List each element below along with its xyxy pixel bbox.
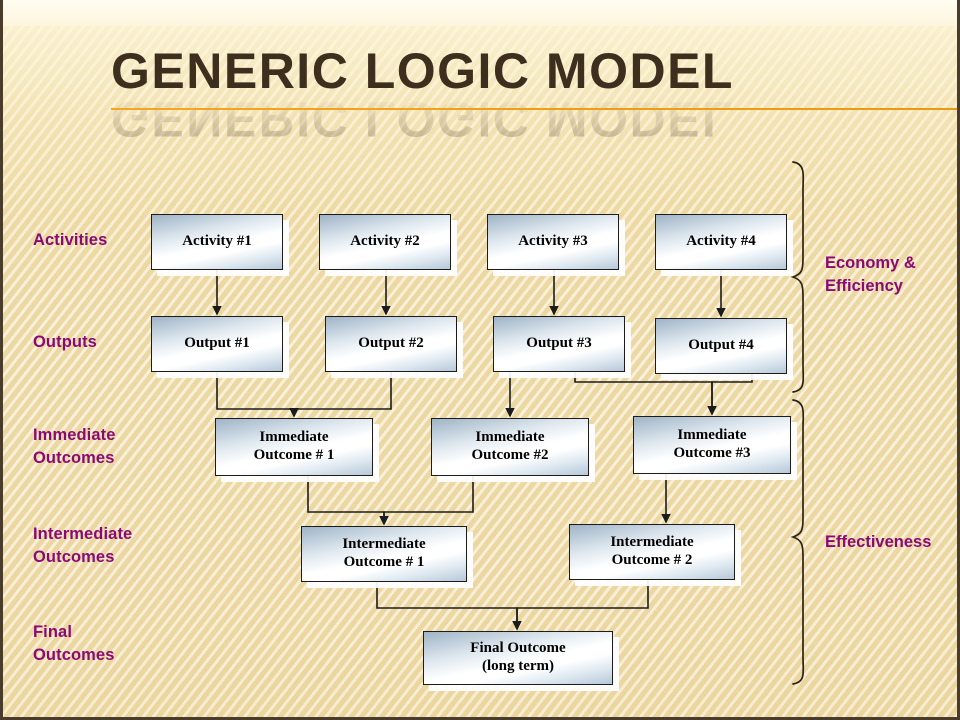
node-intermediate-outcome-1[interactable]: Intermediate Outcome # 1	[301, 526, 467, 582]
brace-economy-efficiency	[793, 162, 803, 392]
connector-output4-join-right	[712, 374, 752, 414]
diagram-connector-layer	[3, 0, 960, 720]
connector-intermediate2-join	[517, 580, 648, 629]
row-label-intermediate-outcomes: Intermediate Outcomes	[33, 523, 132, 570]
page-title: Generic Logic Model	[111, 46, 734, 96]
node-output-3[interactable]: Output #3	[493, 316, 625, 372]
title-container: Generic Logic Model	[3, 46, 957, 96]
node-output-1[interactable]: Output #1	[151, 316, 283, 372]
brace-label-economy-efficiency: Economy & Efficiency	[825, 252, 916, 299]
node-output-2[interactable]: Output #2	[325, 316, 457, 372]
node-immediate-outcome-1[interactable]: Immediate Outcome # 1	[215, 418, 373, 476]
row-label-outputs: Outputs	[33, 331, 97, 354]
background-stripe-texture	[3, 0, 957, 717]
brace-label-effectiveness: Effectiveness	[825, 531, 931, 554]
node-activity-3[interactable]: Activity #3	[487, 214, 619, 270]
row-label-final-outcomes: Final Outcomes	[33, 621, 115, 668]
title-underline-rule	[111, 108, 957, 110]
node-output-4[interactable]: Output #4	[655, 318, 787, 374]
node-activity-4[interactable]: Activity #4	[655, 214, 787, 270]
connector-output2-join	[294, 372, 391, 416]
connector-output1-join	[217, 372, 294, 416]
page-title-reflection: Generic Logic Model	[111, 94, 734, 144]
node-activity-2[interactable]: Activity #2	[319, 214, 451, 270]
connector-intermediate1-join	[377, 582, 517, 629]
node-immediate-outcome-2[interactable]: Immediate Outcome #2	[431, 418, 589, 476]
row-label-activities: Activities	[33, 229, 107, 252]
node-intermediate-outcome-2[interactable]: Intermediate Outcome # 2	[569, 524, 735, 580]
slide-canvas: Generic Logic Model Generic Logic Model	[0, 0, 960, 720]
connector-immediate1-join	[308, 476, 384, 524]
background-top-band	[3, 0, 957, 26]
node-activity-1[interactable]: Activity #1	[151, 214, 283, 270]
row-label-immediate-outcomes: Immediate Outcomes	[33, 424, 116, 471]
brace-effectiveness	[793, 400, 803, 684]
background-gradient-wash	[3, 0, 957, 717]
node-immediate-outcome-3[interactable]: Immediate Outcome #3	[633, 416, 791, 474]
node-final-outcome[interactable]: Final Outcome (long term)	[423, 631, 613, 685]
connector-immediate2-join	[384, 476, 473, 524]
connector-output3-join-right	[575, 372, 712, 414]
